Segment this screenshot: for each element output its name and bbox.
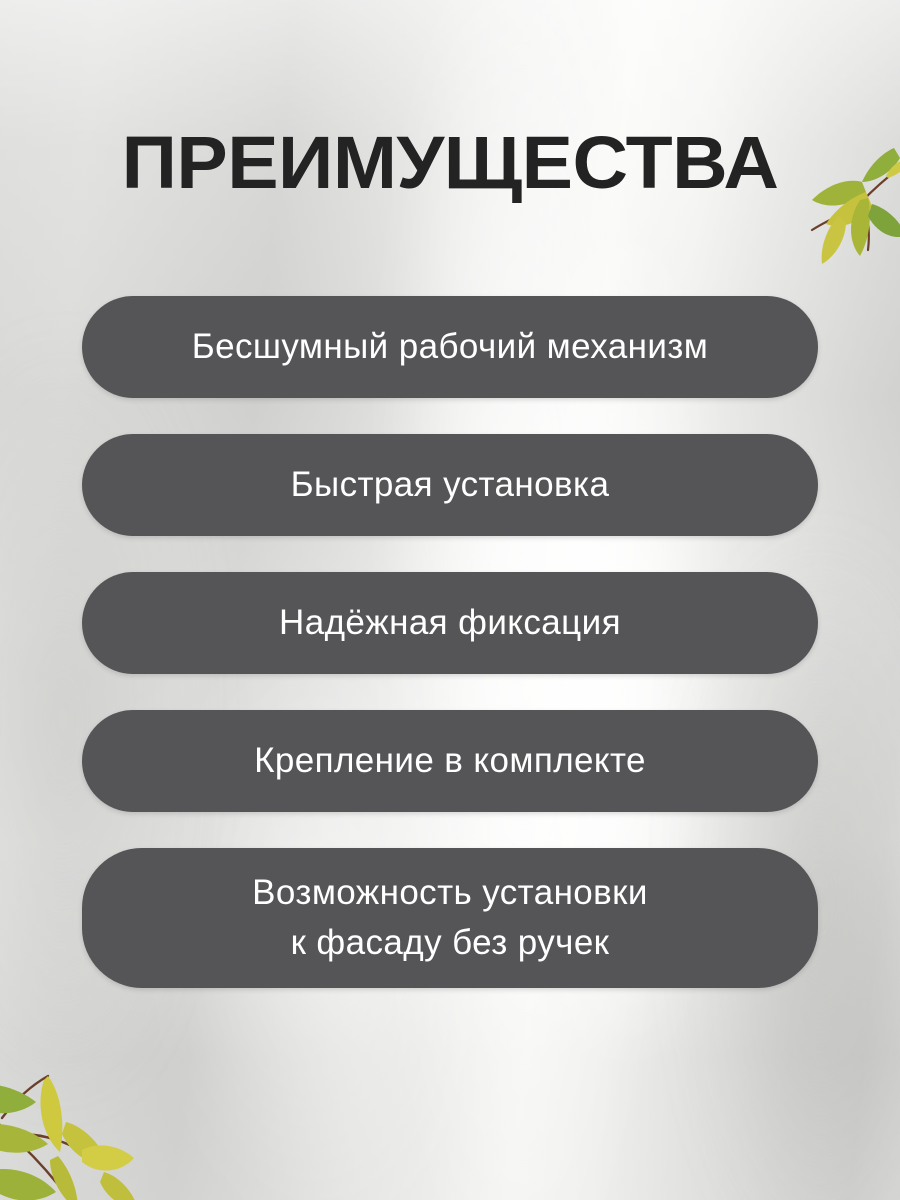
benefit-label-4: Крепление в комплекте bbox=[220, 736, 680, 786]
benefit-item-3: Надёжная фиксация bbox=[82, 572, 818, 674]
benefits-poster: ПРЕИМУЩЕСТВА Бесшумный рабочий механизм … bbox=[0, 0, 900, 1200]
benefit-item-1: Бесшумный рабочий механизм bbox=[82, 296, 818, 398]
benefit-item-2: Быстрая установка bbox=[82, 434, 818, 536]
benefit-label-2: Быстрая установка bbox=[257, 460, 644, 510]
benefit-item-4: Крепление в комплекте bbox=[82, 710, 818, 812]
benefits-list: Бесшумный рабочий механизм Быстрая устан… bbox=[82, 296, 818, 988]
page-title: ПРЕИМУЩЕСТВА bbox=[0, 122, 900, 204]
benefit-label-3: Надёжная фиксация bbox=[245, 598, 655, 648]
benefit-label-1: Бесшумный рабочий механизм bbox=[158, 322, 742, 372]
benefit-label-5-line-1: Возможность установки bbox=[252, 868, 648, 918]
benefit-item-5: Возможность установки к фасаду без ручек bbox=[82, 848, 818, 988]
benefit-label-5-line-2: к фасаду без ручек bbox=[252, 918, 648, 968]
benefit-label-5: Возможность установки к фасаду без ручек bbox=[218, 868, 682, 968]
